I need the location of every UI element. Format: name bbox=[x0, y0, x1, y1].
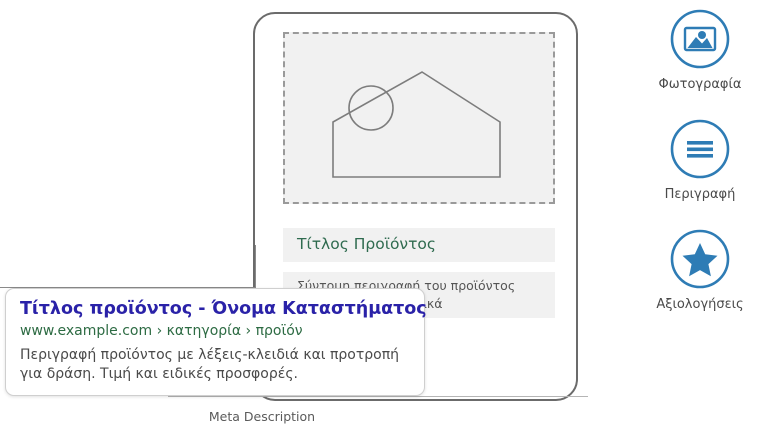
product-title-text: Τίτλος Προϊόντος bbox=[297, 235, 436, 253]
product-title-field[interactable]: Τίτλος Προϊόντος bbox=[283, 228, 555, 262]
feature-item-description[interactable]: Περιγραφή bbox=[620, 118, 780, 203]
feature-label-description: Περιγραφή bbox=[620, 187, 780, 203]
description-lines-icon bbox=[669, 118, 731, 180]
caption-divider-rule bbox=[168, 396, 588, 397]
connector-line-vertical bbox=[255, 245, 256, 288]
serp-snippet-card[interactable]: Τίτλος προϊόντος - Όνομα Καταστήματος ww… bbox=[5, 288, 425, 396]
image-placeholder-icon bbox=[285, 34, 553, 202]
meta-description-caption: Meta Description bbox=[162, 409, 362, 424]
serp-title-link[interactable]: Τίτλος προϊόντος - Όνομα Καταστήματος bbox=[20, 299, 410, 320]
photo-icon bbox=[669, 8, 731, 70]
feature-item-ratings[interactable]: Αξιολογήσεις bbox=[620, 228, 780, 313]
feature-label-photo: Φωτογραφία bbox=[620, 77, 780, 93]
serp-description-text: Περιγραφή προϊόντος με λέξεις-κλειδιά κα… bbox=[20, 346, 412, 384]
serp-url-breadcrumb[interactable]: www.example.com › κατηγορία › προϊόν bbox=[20, 321, 410, 341]
feature-label-ratings: Αξιολογήσεις bbox=[620, 297, 780, 313]
image-placeholder[interactable] bbox=[283, 32, 555, 204]
feature-item-photo[interactable]: Φωτογραφία bbox=[620, 8, 780, 93]
star-rating-icon bbox=[669, 228, 731, 290]
